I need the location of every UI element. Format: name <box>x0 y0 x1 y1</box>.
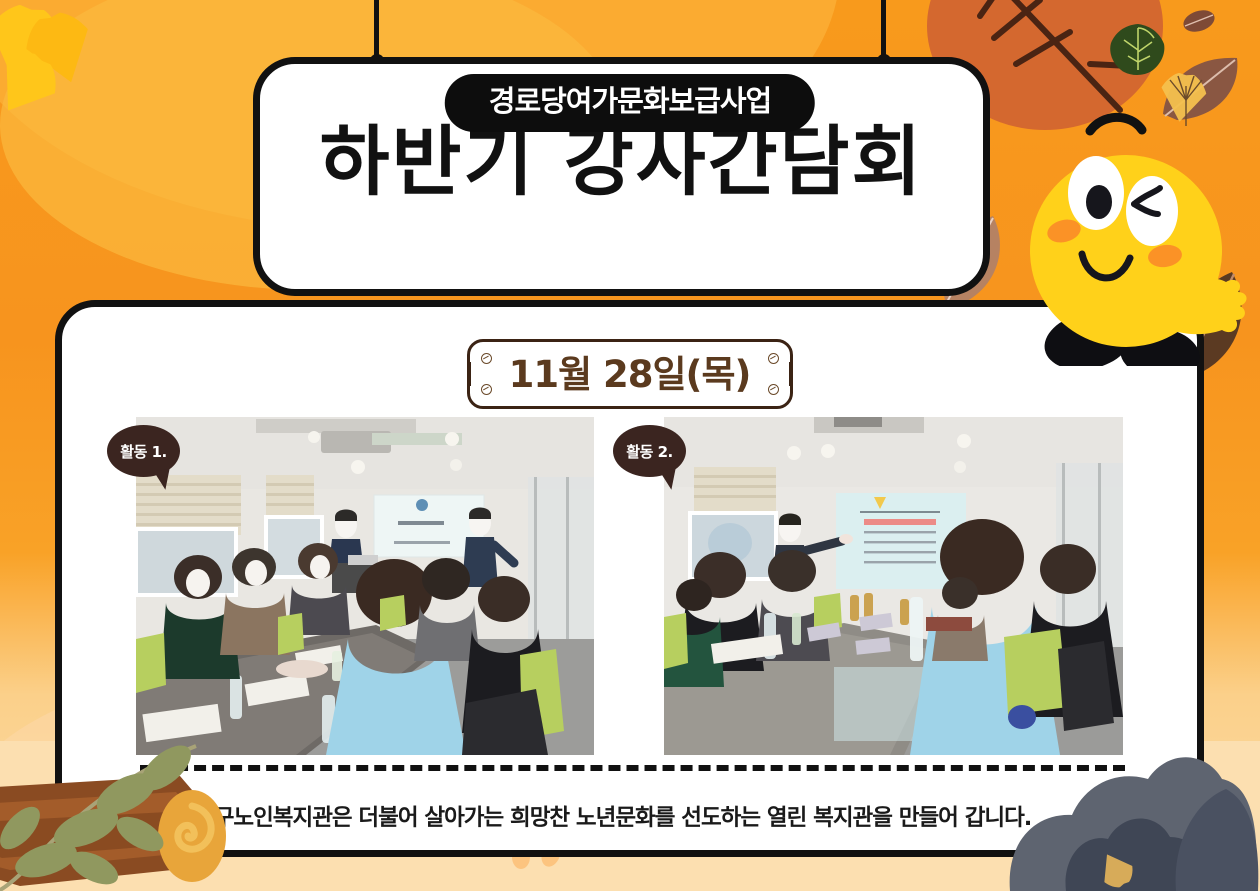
poster-root: 하반기 강사간담회 경로당여가문화보급사업 <box>0 0 1260 891</box>
hanging-string-left <box>374 0 379 63</box>
footer-row: 동구노인복지관은 더불어 살아가는 희망찬 노년문화를 선도하는 열린 복지관을… <box>140 794 1150 838</box>
program-ribbon-badge: 경로당여가문화보급사업 <box>445 74 815 132</box>
activity-badge-2: 활동 2. <box>613 425 686 477</box>
screw-icon <box>768 353 779 364</box>
activity-badge-1: 활동 1. <box>107 425 180 477</box>
activity-badge-2-label: 활동 2. <box>626 441 672 462</box>
page-title: 하반기 강사간담회 <box>260 124 983 200</box>
event-date-plate: 11월 28일(목) <box>467 339 793 409</box>
screw-icon <box>481 384 492 395</box>
hanging-string-right <box>881 0 886 63</box>
ginkgo-leaf-icon <box>0 0 78 95</box>
dark-green-leaf-icon <box>1108 22 1168 78</box>
brown-leaf-icon <box>1182 8 1216 34</box>
screw-icon <box>768 384 779 395</box>
event-date-text: 11월 28일(목) <box>509 356 751 393</box>
activity-badge-1-label: 활동 1. <box>120 441 166 462</box>
brown-leaf-icon <box>1157 52 1247 124</box>
ginkgo-leaf-icon <box>0 37 74 130</box>
ginkgo-leaf-icon <box>1152 68 1214 125</box>
activity-photo-2 <box>664 417 1123 755</box>
footer-text: 동구노인복지관은 더불어 살아가는 희망찬 노년문화를 선도하는 열린 복지관을… <box>194 800 1031 832</box>
screw-icon <box>481 353 492 364</box>
program-ribbon-label: 경로당여가문화보급사업 <box>489 84 771 118</box>
maple-leaf-icon <box>140 794 180 838</box>
dashed-divider <box>140 765 1125 771</box>
ginkgo-stem-icon <box>1156 60 1216 132</box>
plate-tick-right <box>789 362 792 386</box>
activity-photo-1-image <box>136 417 594 755</box>
plate-tick-left <box>468 362 471 386</box>
content-card: 11월 28일(목) <box>55 300 1204 857</box>
ginkgo-leaf-icon <box>11 1 109 94</box>
activity-photo-1 <box>136 417 594 755</box>
activity-photo-2-image <box>664 417 1123 755</box>
